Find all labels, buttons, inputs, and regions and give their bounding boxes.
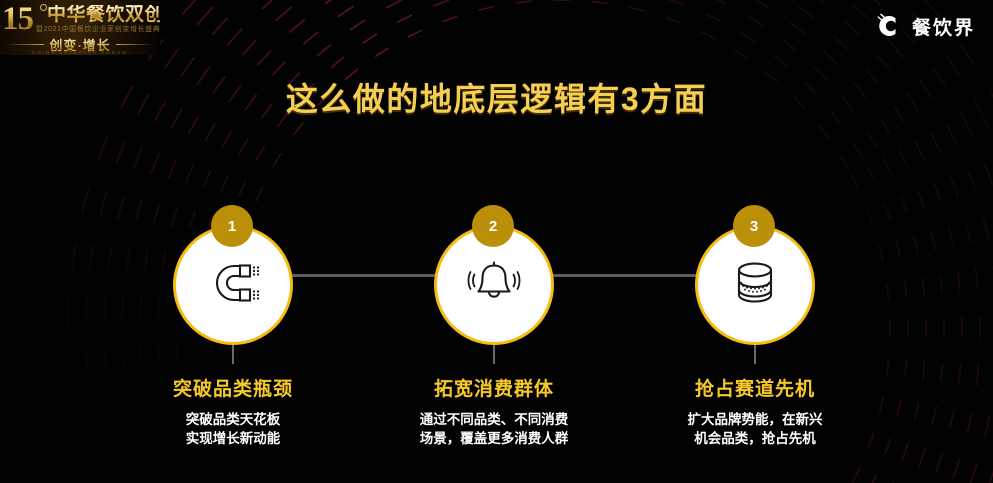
bell-ringing-icon	[465, 257, 523, 314]
step-badge-1: 1	[211, 205, 253, 247]
connector-line-2-3	[553, 274, 708, 277]
step-heading-3: 抢占赛道先机	[625, 374, 885, 401]
step-caption-1: 突破品类瓶颈 突破品类天花板 实现增长新动能	[103, 374, 363, 448]
logo-main-text: 中华餐饮双创论坛	[47, 5, 160, 25]
logo-rule-left	[6, 44, 44, 45]
step-desc-2-line-1: 通过不同品类、不同消费	[364, 410, 624, 429]
logo-edition-number: 15	[2, 2, 33, 36]
step-desc-1-line-1: 突破品类天花板	[103, 410, 363, 429]
step-desc-3-line-1: 扩大品牌势能，在新兴	[625, 410, 885, 429]
magnet-icon	[204, 257, 262, 314]
connector-line-1-2	[292, 274, 447, 277]
slide-canvas: 15 中华餐饮双创论坛 暨2021中国餐饮企业家创变增长盛典 创变·增长 CHI…	[0, 0, 993, 483]
brand-logo: 餐饮界	[873, 8, 975, 44]
c-swoosh-icon	[873, 11, 903, 41]
step-heading-2: 拓宽消费群体	[364, 374, 624, 401]
step-desc-3-line-2: 机会品类，抢占先机	[625, 429, 885, 448]
conference-logo: 15 中华餐饮双创论坛 暨2021中国餐饮企业家创变增长盛典 创变·增长 CHI…	[0, 0, 160, 55]
step-heading-1: 突破品类瓶颈	[103, 374, 363, 401]
brand-name: 餐饮界	[912, 13, 975, 40]
step-badge-2: 2	[472, 205, 514, 247]
logo-subtitle: 暨2021中国餐饮企业家创变增长盛典	[36, 25, 160, 34]
step-desc-2-line-2: 场景，覆盖更多消费人群	[364, 429, 624, 448]
step-caption-2: 拓宽消费群体 通过不同品类、不同消费 场景，覆盖更多消费人群	[364, 374, 624, 448]
step-desc-1-line-2: 实现增长新动能	[103, 429, 363, 448]
page-title: 这么做的地底层逻辑有3方面	[0, 74, 993, 120]
logo-rule-right	[116, 44, 154, 45]
step-caption-3: 抢占赛道先机 扩大品牌势能，在新兴 机会品类，抢占先机	[625, 374, 885, 448]
cylinder-stack-icon	[727, 257, 783, 314]
logo-degree-mark	[40, 4, 47, 11]
logo-tiny-line: CHINA CATERING FORUM	[0, 50, 160, 55]
step-badge-3: 3	[733, 205, 775, 247]
